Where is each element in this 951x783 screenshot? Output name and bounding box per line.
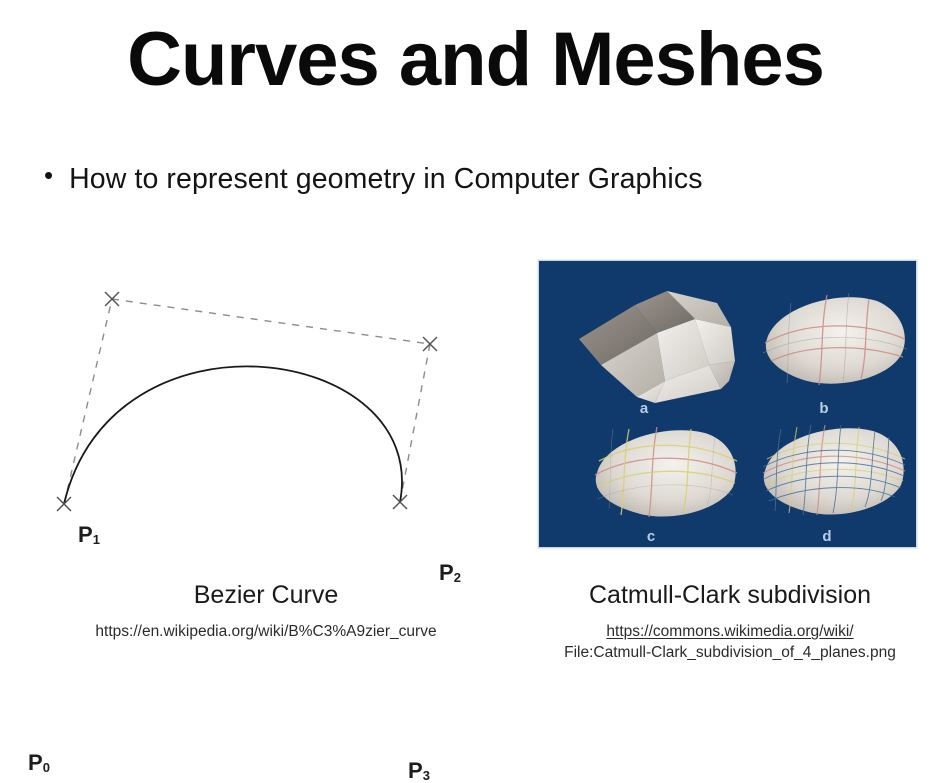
bezier-caption: Bezier Curve https://en.wikipedia.org/wi… [16, 580, 516, 643]
bezier-caption-title: Bezier Curve [16, 580, 516, 611]
control-point-label-p1: P1 [78, 524, 100, 546]
bullet-marker-icon: • [44, 162, 53, 188]
mesh-a-label: a [640, 400, 649, 417]
mesh-c-label: c [647, 528, 655, 545]
control-line-p0-p1 [64, 299, 112, 504]
control-line-p2-p3 [400, 344, 430, 502]
catmull-clark-figure-panel: a b [520, 252, 940, 652]
mesh-b-label: b [819, 400, 828, 417]
mesh-d-label: d [822, 528, 831, 545]
bullet-item-label: How to represent geometry in Computer Gr… [69, 163, 702, 196]
catmull-caption: Catmull-Clark subdivision https://common… [520, 580, 940, 664]
control-point-label-p3: P3 [408, 760, 430, 782]
bezier-figure-panel: P0 P1 P2 P3 Bezier Curve https://en.wiki… [16, 252, 516, 652]
bezier-source-url[interactable]: https://en.wikipedia.org/wiki/B%C3%A9zie… [16, 622, 516, 643]
catmull-caption-title: Catmull-Clark subdivision [520, 580, 940, 611]
control-point-label-p0: P0 [28, 752, 50, 774]
catmull-source-url-line2[interactable]: File:Catmull-Clark_subdivision_of_4_plan… [520, 643, 940, 664]
bezier-curve-diagram [16, 252, 516, 557]
bullet-list-item: • How to represent geometry in Computer … [44, 163, 703, 196]
control-point-marker-p2 [423, 337, 437, 351]
bezier-curve-path [64, 366, 402, 504]
control-line-p1-p2 [112, 299, 430, 344]
control-point-marker-p0 [57, 497, 71, 511]
page-title: Curves and Meshes [0, 22, 951, 98]
catmull-source-url-line1[interactable]: https://commons.wikimedia.org/wiki/ [520, 622, 940, 643]
catmull-clark-subdivision-image: a b [538, 260, 917, 548]
